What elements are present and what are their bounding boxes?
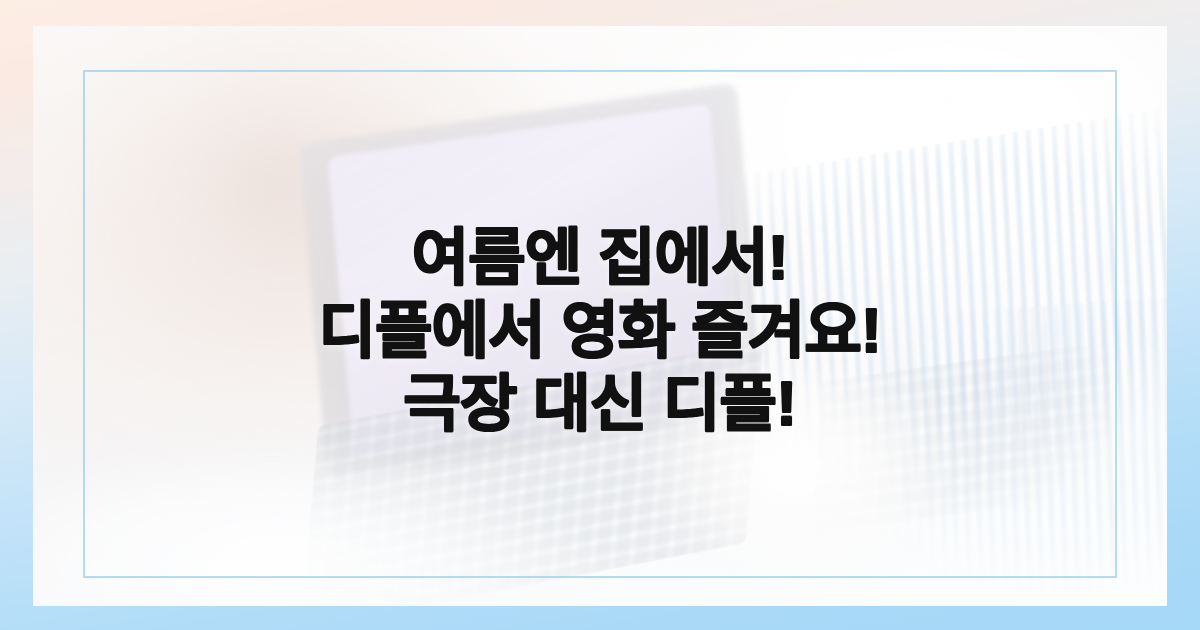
headline: 여름엔 집에서! 디플에서 영화 즐겨요! 극장 대신 디플! (33, 222, 1167, 441)
thumbnail-card: 여름엔 집에서! 디플에서 영화 즐겨요! 극장 대신 디플! (0, 0, 1200, 630)
inner-panel: 여름엔 집에서! 디플에서 영화 즐겨요! 극장 대신 디플! (33, 26, 1167, 606)
headline-line-3: 극장 대신 디플! (33, 368, 1167, 441)
headline-line-1: 여름엔 집에서! (33, 222, 1167, 295)
headline-line-2: 디플에서 영화 즐겨요! (33, 295, 1167, 368)
